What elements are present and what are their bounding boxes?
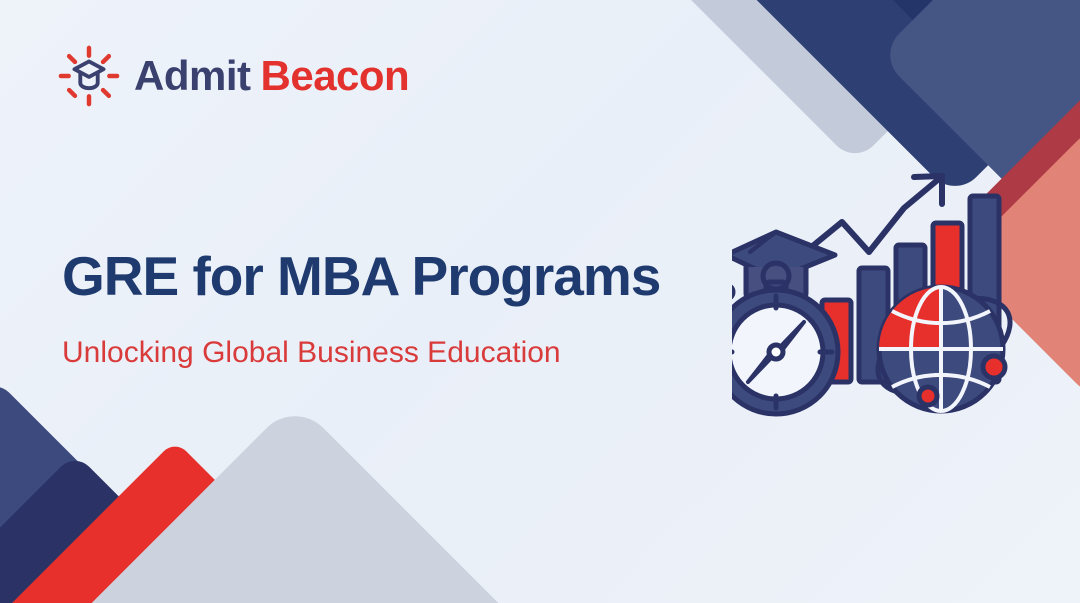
deco-bottom-left-red-diamond <box>0 440 373 603</box>
deco-bottom-left-deep-navy-diamond <box>0 453 315 603</box>
education-analytics-illustration <box>732 160 1032 425</box>
graduation-cap-beacon-icon <box>58 45 120 107</box>
brand-wordmark: AdmitBeacon <box>134 55 409 97</box>
deco-top-right-gray-diamond <box>671 0 1039 164</box>
deco-bottom-left-navy-diamond <box>0 378 250 603</box>
hero-copy: GRE for MBA Programs Unlocking Global Bu… <box>62 248 762 369</box>
hero-banner: AdmitBeacon GRE for MBA Programs Unlocki… <box>0 0 1080 603</box>
brand-word-admit: Admit <box>134 52 251 99</box>
page-subtitle: Unlocking Global Business Education <box>62 336 762 369</box>
page-title: GRE for MBA Programs <box>62 248 762 306</box>
brand-word-beacon: Beacon <box>261 52 410 99</box>
deco-bottom-left-gray-diamond <box>62 400 529 603</box>
brand-logo[interactable]: AdmitBeacon <box>58 45 409 107</box>
